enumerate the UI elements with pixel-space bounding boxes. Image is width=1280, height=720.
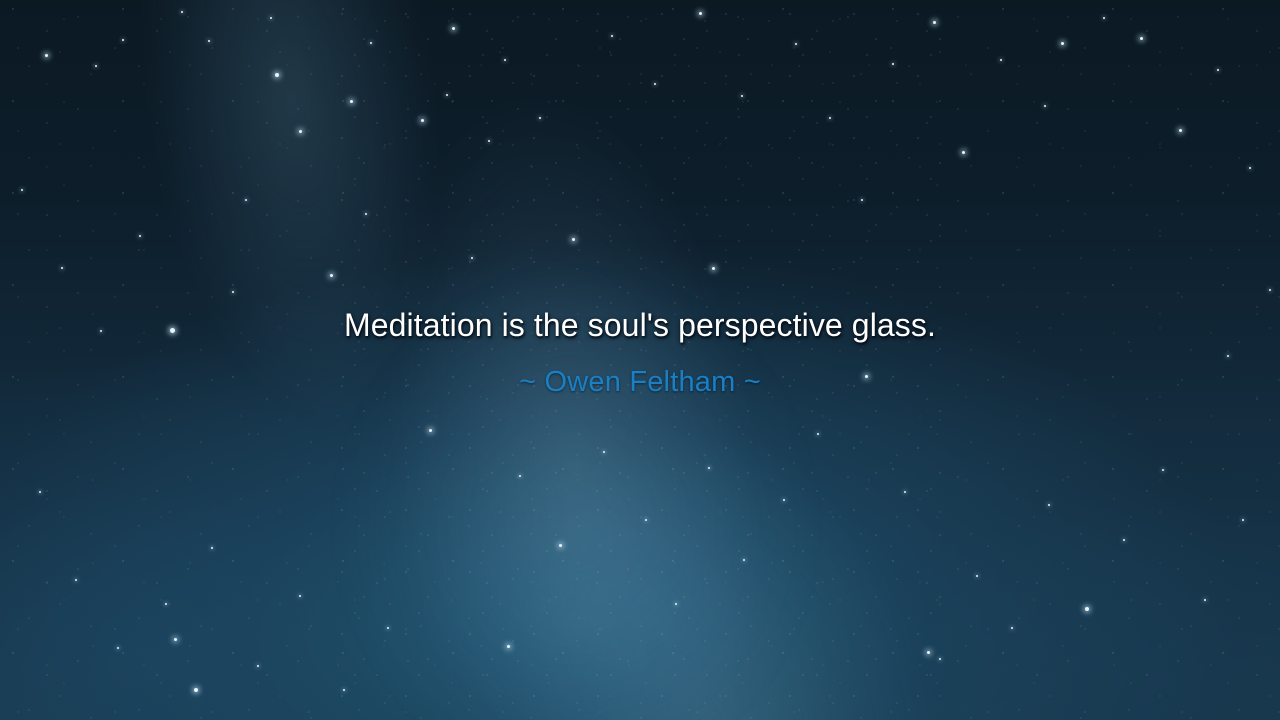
star: [61, 267, 63, 269]
star: [539, 117, 541, 119]
star: [708, 467, 710, 469]
star: [21, 189, 23, 191]
star: [1103, 17, 1105, 19]
star: [452, 27, 455, 30]
star: [654, 83, 656, 85]
star: [603, 451, 605, 453]
star: [1269, 289, 1271, 291]
star: [1085, 607, 1089, 611]
star: [519, 475, 521, 477]
star: [270, 17, 272, 19]
star: [174, 638, 177, 641]
star: [350, 100, 353, 103]
star: [208, 40, 210, 42]
star: [365, 213, 367, 215]
star: [939, 658, 941, 660]
star: [387, 627, 389, 629]
star: [741, 95, 743, 97]
star: [343, 689, 345, 691]
star: [645, 519, 647, 521]
star: [75, 579, 77, 581]
star: [45, 54, 48, 57]
star: [299, 130, 302, 133]
star: [1011, 627, 1013, 629]
star: [275, 73, 279, 77]
star: [904, 491, 906, 493]
star: [122, 39, 124, 41]
star: [211, 547, 213, 549]
star: [39, 491, 41, 493]
star: [817, 433, 819, 435]
star: [611, 35, 613, 37]
star: [795, 43, 797, 45]
star: [699, 12, 702, 15]
star: [559, 544, 562, 547]
star: [330, 274, 333, 277]
star: [1217, 69, 1219, 71]
star: [421, 119, 424, 122]
star: [829, 117, 831, 119]
star: [1061, 42, 1064, 45]
star: [117, 647, 119, 649]
star: [245, 199, 247, 201]
star: [471, 257, 473, 259]
star: [1162, 469, 1164, 471]
star: [194, 688, 198, 692]
quote-author: ~ Owen Feltham ~: [0, 364, 1280, 400]
star: [1249, 167, 1251, 169]
star: [1000, 59, 1002, 61]
star: [257, 665, 259, 667]
star: [933, 21, 936, 24]
star: [1044, 105, 1046, 107]
star: [743, 559, 745, 561]
star: [892, 63, 894, 65]
star: [976, 575, 978, 577]
star: [1140, 37, 1143, 40]
star: [429, 429, 432, 432]
star: [446, 94, 448, 96]
star: [165, 603, 167, 605]
quote-card: Meditation is the soul's perspective gla…: [0, 0, 1280, 720]
star: [504, 59, 506, 61]
star: [1048, 504, 1050, 506]
quote-text: Meditation is the soul's perspective gla…: [0, 305, 1280, 346]
star: [370, 42, 372, 44]
star: [1204, 599, 1206, 601]
star: [1179, 129, 1182, 132]
star: [139, 235, 141, 237]
star: [1123, 539, 1125, 541]
star: [783, 499, 785, 501]
star: [861, 199, 863, 201]
star: [232, 291, 234, 293]
star: [675, 603, 677, 605]
star: [927, 651, 930, 654]
star: [488, 140, 490, 142]
star: [95, 65, 97, 67]
quote-block: Meditation is the soul's perspective gla…: [0, 305, 1280, 400]
star: [507, 645, 510, 648]
star: [1242, 519, 1244, 521]
star: [572, 238, 575, 241]
star: [181, 11, 183, 13]
star: [962, 151, 965, 154]
star: [299, 595, 301, 597]
star: [712, 267, 715, 270]
